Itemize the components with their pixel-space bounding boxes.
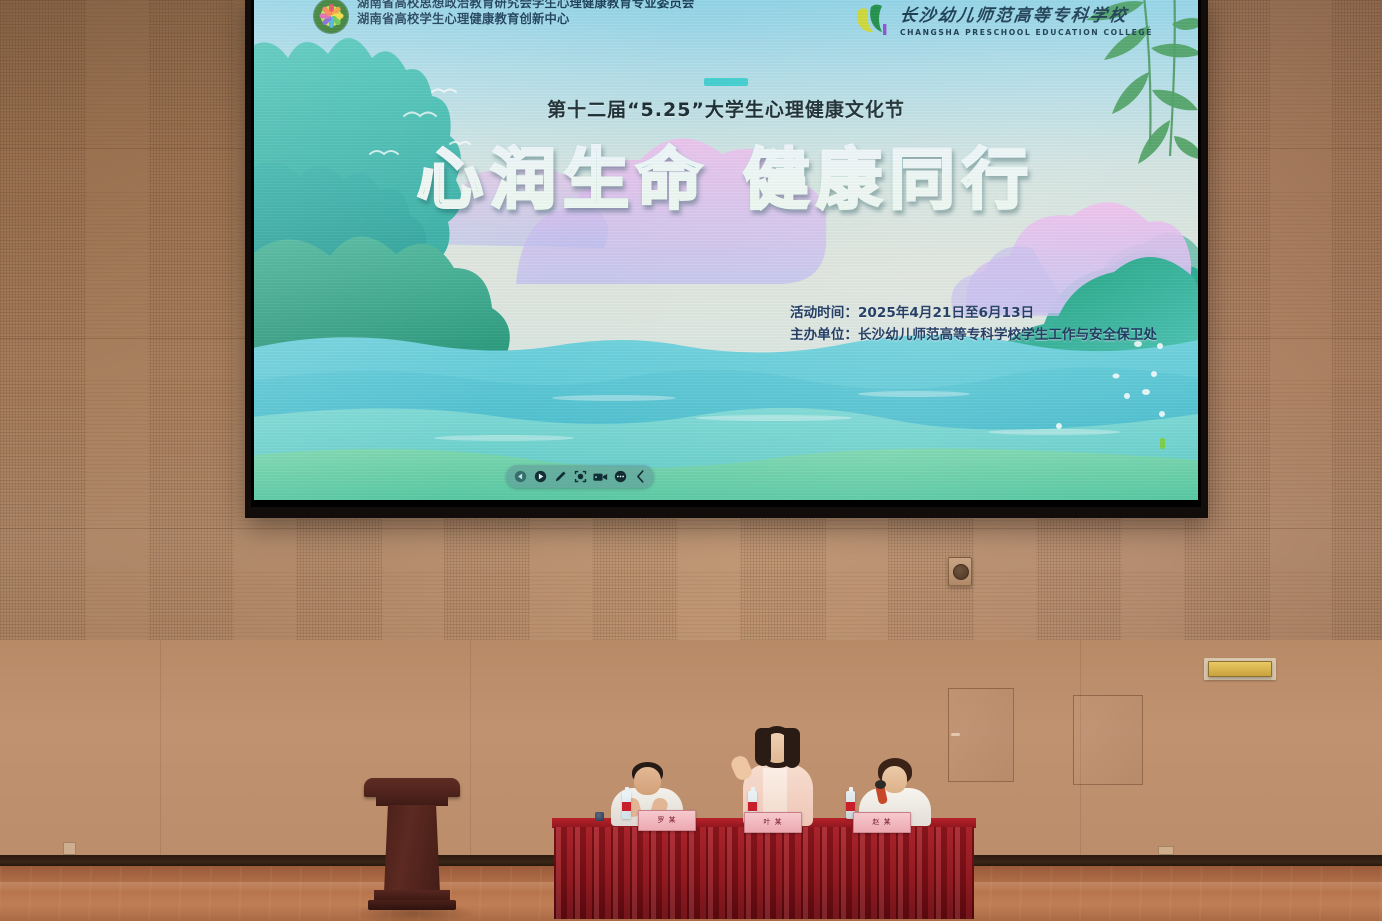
namecard-speaker-right: 赵 某 [853, 812, 911, 833]
org-line-1: 湖南省高校思想政治教育研究会学生心理健康教育专业委员会 [357, 0, 694, 12]
speaker-center-hair-side [755, 728, 771, 766]
namecard-text: 赵 某 [854, 817, 910, 827]
floating-media-toolbar[interactable] [506, 465, 654, 488]
more-ellipsis-icon[interactable] [612, 469, 628, 485]
pen-icon[interactable] [552, 469, 568, 485]
wall-panel-right [1073, 695, 1143, 785]
host-organization-text: 湖南省高校思想政治教育研究会学生心理健康教育专业委员会 湖南省高校学生心理健康教… [357, 0, 694, 27]
speakers-table [552, 818, 976, 921]
wall-panel-left [948, 688, 1014, 782]
wall-vertical-seam [160, 640, 161, 855]
water-bottle [622, 791, 631, 819]
auditorium-scene: 湖南省高校思想政治教育研究会学生心理健康教育专业委员会 湖南省高校学生心理健康教… [0, 0, 1382, 921]
video-camera-icon[interactable] [592, 469, 608, 485]
chevron-left-icon[interactable] [632, 469, 648, 485]
microphone-base [595, 812, 604, 821]
namecard-speaker-center: 叶 某 [744, 812, 802, 833]
slide-header: 湖南省高校思想政治教育研究会学生心理健康教育专业委员会 湖南省高校学生心理健康教… [254, 0, 1198, 46]
speaker-center-blouse [763, 768, 787, 818]
wall-speaker-icon [948, 557, 972, 586]
namecard-text: 罗 某 [639, 815, 695, 825]
podium-foot [368, 900, 456, 910]
namecard-speaker-left: 罗 某 [638, 810, 696, 831]
podium-body [384, 805, 440, 893]
wall-vertical-seam [470, 640, 471, 855]
event-organizer-line: 主办单位：长沙幼儿师范高等专科学校学生工作与安全保卫处 [790, 324, 1157, 346]
event-date-line: 活动时间：2025年4月21日至6月13日 [790, 302, 1157, 324]
org-line-2: 湖南省高校学生心理健康教育创新中心 [357, 12, 694, 28]
flower-emblem-icon [314, 0, 348, 33]
rewind-icon[interactable] [512, 469, 528, 485]
play-icon[interactable] [532, 469, 548, 485]
focus-capture-icon[interactable] [572, 469, 588, 485]
college-name-en: CHANGSHA PRESCHOOL EDUCATION COLLEGE [900, 28, 1153, 37]
podium-neck [376, 795, 448, 806]
college-leaf-logo-icon [854, 2, 894, 36]
slide-title-part-1: 心润生命 [417, 141, 709, 218]
microphone-head [875, 780, 886, 789]
slide-main-title: 心润生命健康同行 [254, 126, 1198, 222]
slide-title-part-2: 健康同行 [743, 141, 1035, 218]
presentation-slide[interactable]: 湖南省高校思想政治教育研究会学生心理健康教育专业委员会 湖南省高校学生心理健康教… [254, 0, 1198, 500]
slide-subtitle: 第十二届“5.25”大学生心理健康文化节 [254, 95, 1198, 122]
speaker-right-head [882, 766, 907, 793]
college-name-zh: 长沙幼儿师范高等专科学校 [898, 1, 1154, 26]
wall-outlet [1158, 846, 1174, 855]
wall-seam [0, 528, 1382, 529]
title-accent-tick [704, 78, 748, 86]
table-skirt [554, 827, 974, 919]
speaker-center [733, 728, 821, 824]
speaker-cone [953, 564, 969, 580]
panel-handle [951, 733, 960, 736]
speaker-center-hair-side [784, 728, 800, 768]
college-logo: 长沙幼儿师范高等专科学校 CHANGSHA PRESCHOOL EDUCATIO… [854, 0, 1153, 41]
wall-outlet [63, 842, 76, 855]
speaker-left-head [634, 767, 661, 795]
yellow-wall-sign [1208, 661, 1272, 677]
wooden-podium [364, 778, 460, 918]
slide-event-meta: 活动时间：2025年4月21日至6月13日 主办单位：长沙幼儿师范高等专科学校学… [790, 302, 1157, 346]
namecard-text: 叶 某 [745, 817, 801, 827]
